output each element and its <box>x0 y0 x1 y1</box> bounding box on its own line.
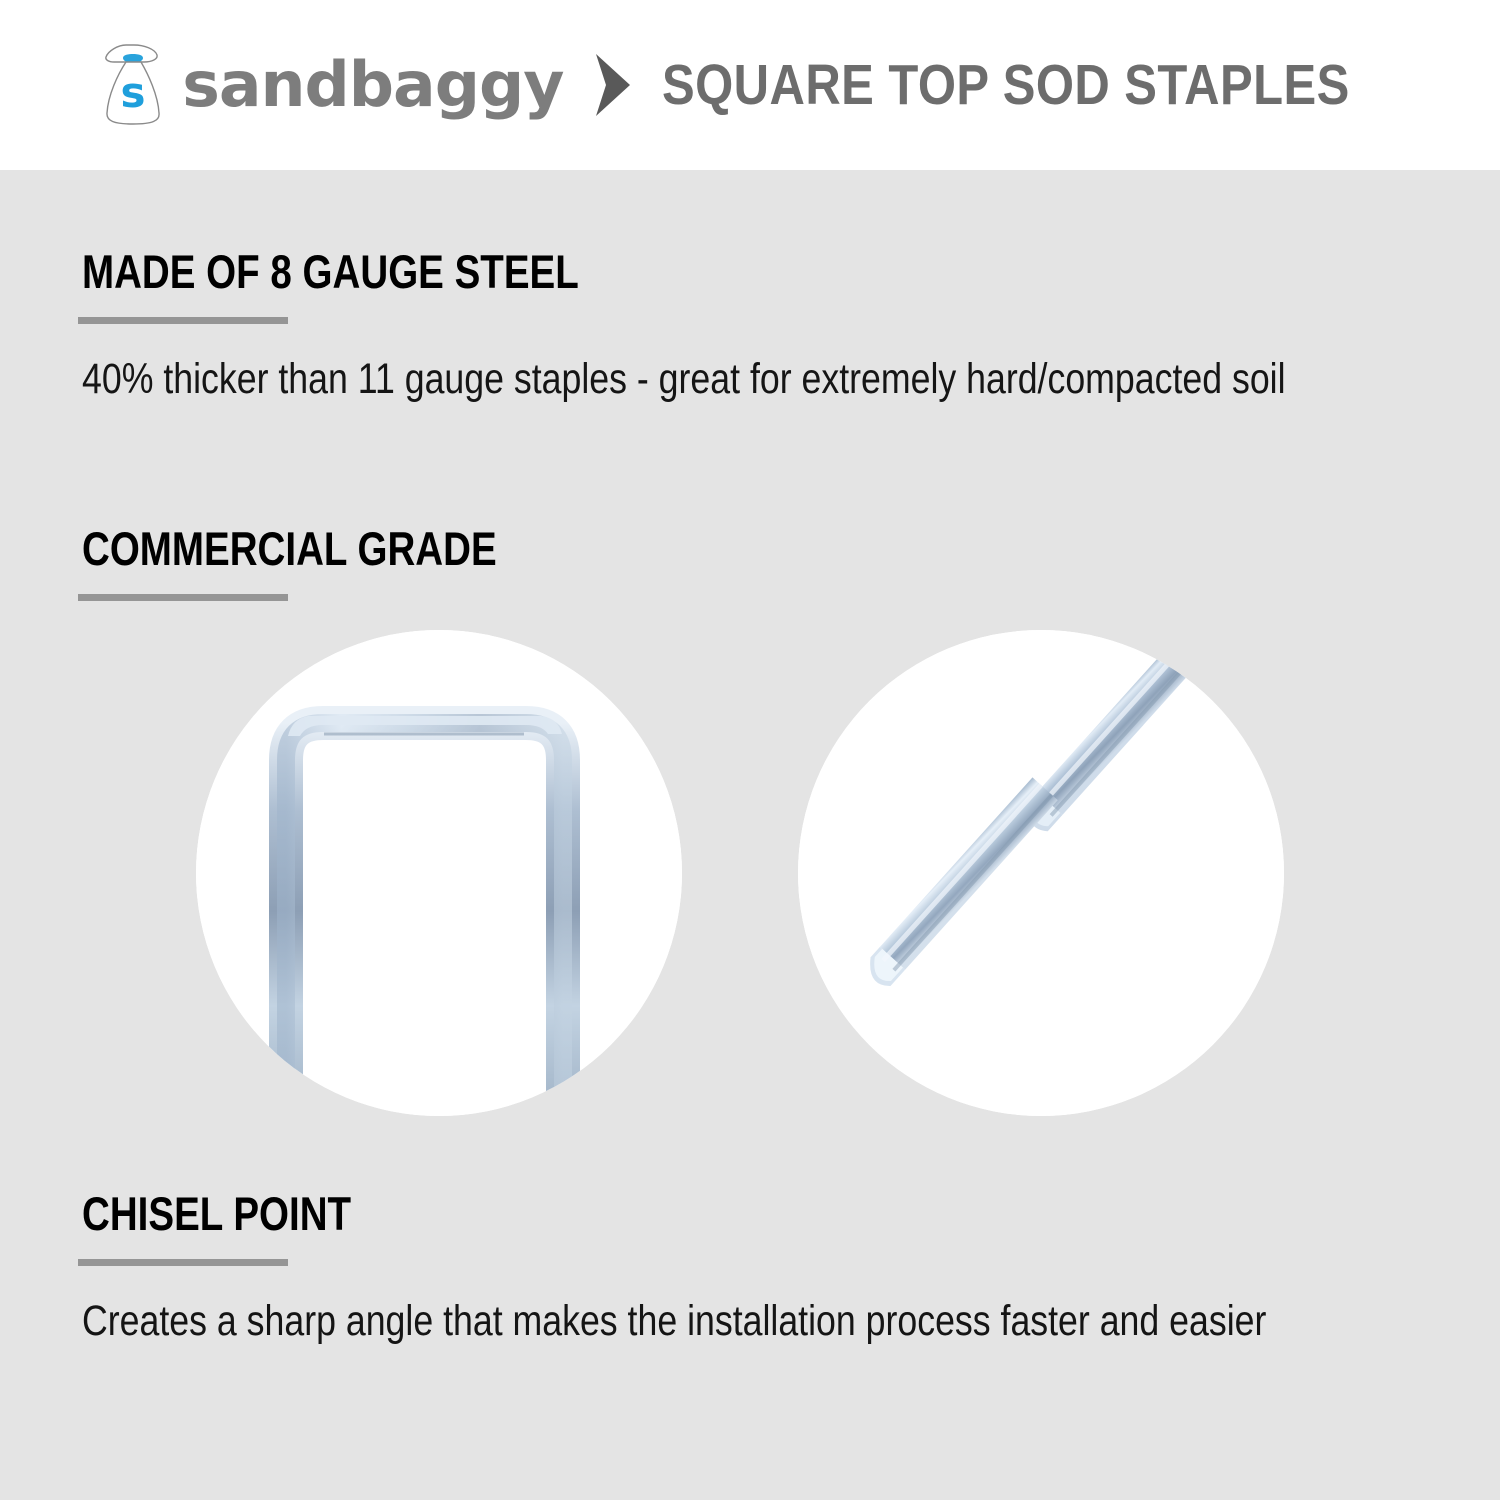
feature-heading-gauge: MADE OF 8 GAUGE STEEL <box>82 248 1394 295</box>
heading-rule <box>78 1259 288 1266</box>
feature-heading-commercial: COMMERCIAL GRADE <box>82 525 497 572</box>
square-top-staple-photo <box>196 630 682 1116</box>
heading-rule <box>78 317 288 324</box>
feature-section-gauge: MADE OF 8 GAUGE STEEL 40% thicker than 1… <box>82 248 1500 408</box>
page-title: SQUARE TOP SOD STAPLES <box>662 57 1350 114</box>
feature-body-gauge: 40% thicker than 11 gauge staples - grea… <box>82 324 1410 408</box>
brand-logo[interactable]: s sandbaggy <box>100 41 560 129</box>
page-header: s sandbaggy SQUARE TOP SOD STAPLES <box>0 0 1500 170</box>
feature-section-chisel: CHISEL POINT Creates a sharp angle that … <box>82 1190 1500 1350</box>
chisel-point-legs-photo <box>798 630 1284 1116</box>
brand-wordmark: sandbaggy <box>182 54 563 116</box>
sandbag-icon: s <box>100 41 172 129</box>
svg-text:s: s <box>121 68 146 117</box>
content-area: MADE OF 8 GAUGE STEEL 40% thicker than 1… <box>0 170 1500 1500</box>
heading-rule <box>78 594 288 601</box>
chevron-right-icon <box>590 52 636 118</box>
feature-section-commercial: COMMERCIAL GRADE <box>82 525 588 601</box>
feature-body-chisel: Creates a sharp angle that makes the ins… <box>82 1266 1410 1350</box>
feature-heading-chisel: CHISEL POINT <box>82 1190 1394 1237</box>
infographic-page: s sandbaggy SQUARE TOP SOD STAPLES MADE … <box>0 0 1500 1500</box>
